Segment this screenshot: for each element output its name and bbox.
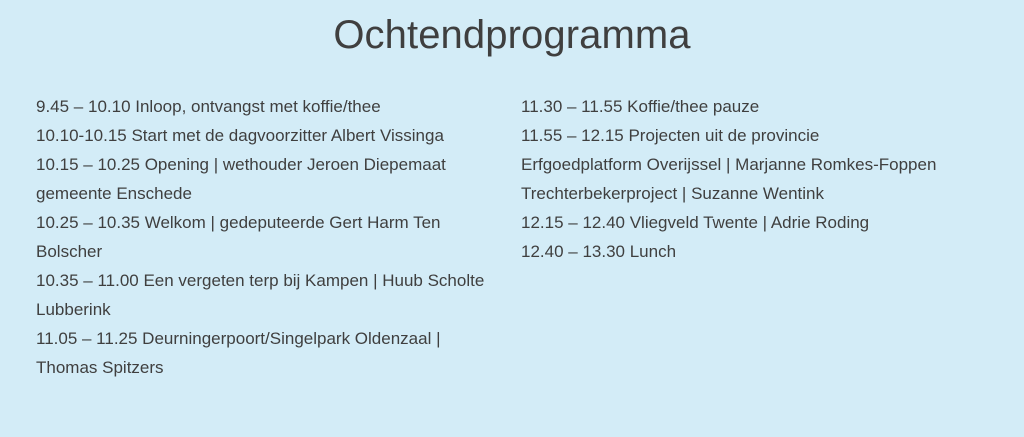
program-column-left: 9.45 – 10.10 Inloop, ontvangst met koffi…: [36, 92, 488, 382]
slide-canvas: Ochtendprogramma 9.45 – 10.10 Inloop, on…: [0, 0, 1024, 437]
schedule-entry: 11.30 – 11.55 Koffie/thee pauze: [521, 92, 991, 121]
program-columns: 9.45 – 10.10 Inloop, ontvangst met koffi…: [0, 92, 1024, 392]
schedule-entry: 12.15 – 12.40 Vliegveld Twente | Adrie R…: [521, 208, 991, 237]
schedule-entry: Trechterbekerproject | Suzanne Wentink: [521, 179, 991, 208]
page-title: Ochtendprogramma: [0, 12, 1024, 59]
schedule-entry: 9.45 – 10.10 Inloop, ontvangst met koffi…: [36, 92, 488, 121]
schedule-entry: 12.40 – 13.30 Lunch: [521, 237, 991, 266]
schedule-entry: 11.05 – 11.25 Deurningerpoort/Singelpark…: [36, 324, 488, 382]
program-column-right: 11.30 – 11.55 Koffie/thee pauze 11.55 – …: [521, 92, 991, 266]
schedule-entry: 10.25 – 10.35 Welkom | gedeputeerde Gert…: [36, 208, 488, 266]
schedule-entry: 11.55 – 12.15 Projecten uit de provincie: [521, 121, 991, 150]
schedule-entry: Erfgoedplatform Overijssel | Marjanne Ro…: [521, 150, 991, 179]
schedule-entry: 10.35 – 11.00 Een vergeten terp bij Kamp…: [36, 266, 488, 324]
schedule-entry: 10.15 – 10.25 Opening | wethouder Jeroen…: [36, 150, 488, 208]
schedule-entry: 10.10-10.15 Start met de dagvoorzitter A…: [36, 121, 488, 150]
